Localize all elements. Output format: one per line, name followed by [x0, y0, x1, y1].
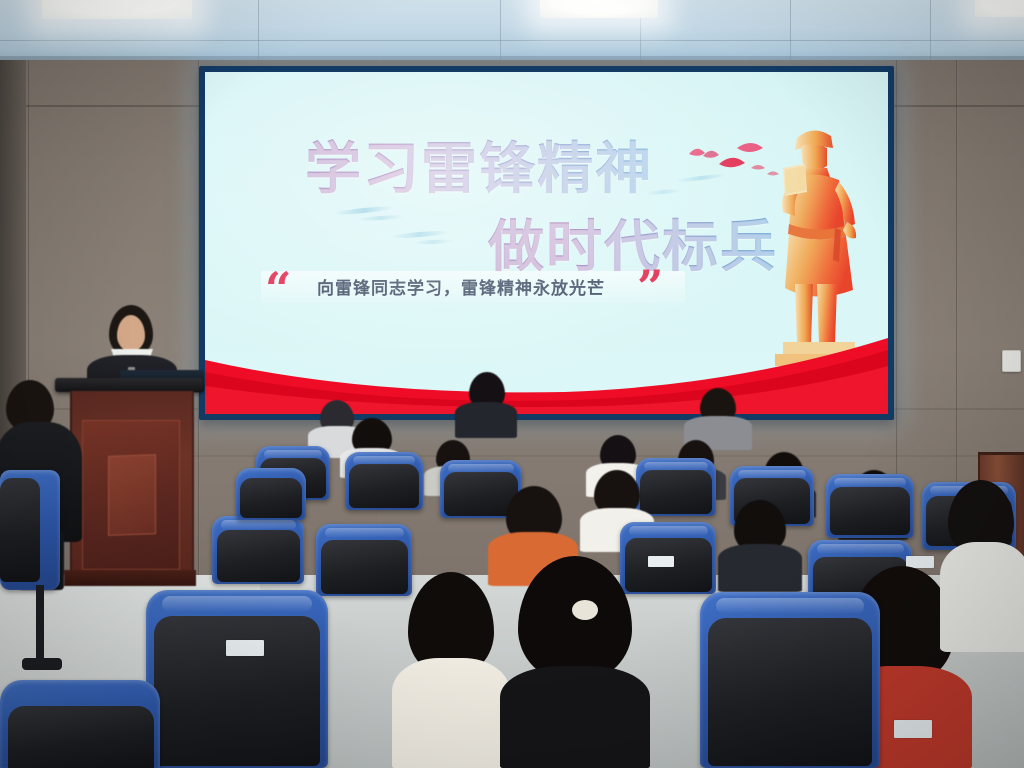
audience-member	[684, 388, 752, 446]
ceiling	[0, 0, 1024, 64]
projection-screen: 学习雷锋精神 做时代标兵 “ 向雷锋同志学习，雷锋精神永放光芒 ”	[205, 72, 888, 414]
projection-screen-frame: 学习雷锋精神 做时代标兵 “ 向雷锋同志学习，雷锋精神永放光芒 ”	[199, 66, 894, 420]
seat-left-foot	[22, 658, 62, 670]
audience-member-foreground	[500, 556, 650, 768]
quote-text: 向雷锋同志学习，雷锋精神永放光芒	[317, 274, 605, 299]
cloud-wisp	[357, 214, 405, 221]
audience-member	[455, 372, 517, 432]
cloud-wisp	[391, 229, 449, 239]
presenter-face	[117, 315, 145, 351]
podium-base	[64, 570, 196, 586]
audience-member-foreground	[940, 480, 1024, 650]
seat-top	[240, 478, 302, 518]
wall-switch-plate[interactable]	[1002, 350, 1021, 372]
quote-close-icon: ”	[637, 264, 663, 310]
cloud-wisp	[413, 239, 453, 245]
cloud-wisp	[333, 205, 395, 216]
ceiling-light-panel	[42, 0, 192, 19]
seat-number-label	[894, 720, 932, 738]
quote-open-icon: “	[265, 266, 291, 312]
seat-left-aisle-top	[0, 478, 40, 582]
hair-tie	[572, 600, 598, 620]
ceiling-light-panel	[540, 0, 658, 18]
seat-number-label	[648, 556, 674, 567]
audience-member	[718, 500, 802, 588]
ceiling-light-panel	[975, 0, 1024, 17]
audience-member-foreground	[392, 572, 510, 768]
slide-title-line-1: 学习雷锋精神	[305, 124, 653, 205]
seat-number-label	[226, 640, 264, 656]
podium-inlay	[108, 454, 156, 536]
seat-left-post	[36, 585, 44, 665]
auditorium-photo: 学习雷锋精神 做时代标兵 “ 向雷锋同志学习，雷锋精神永放光芒 ”	[0, 0, 1024, 768]
